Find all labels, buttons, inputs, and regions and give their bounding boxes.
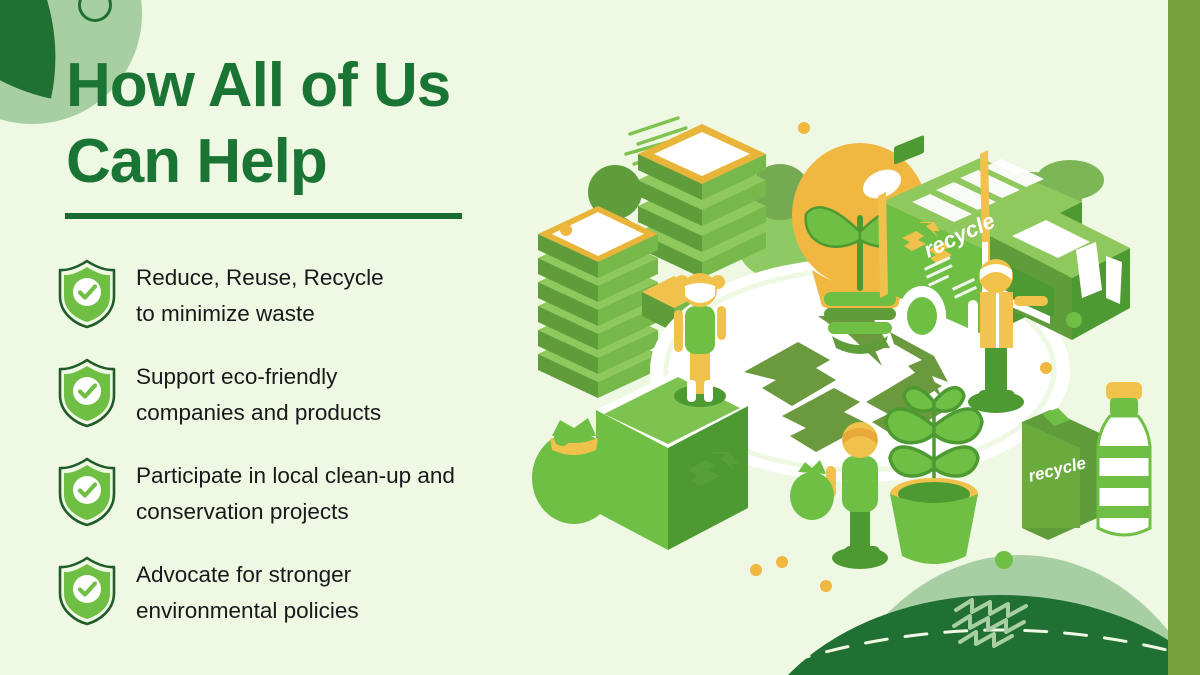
- list-item-label: Support eco-friendly companies and produ…: [136, 355, 381, 430]
- shield-check-icon: [56, 357, 118, 429]
- right-edge-accent-bar: [1168, 0, 1200, 675]
- list-item: Participate in local clean-up and conser…: [56, 454, 536, 529]
- list-item: Reduce, Reuse, Recycle to minimize waste: [56, 256, 536, 331]
- recycling-scene-illustration: recycle: [530, 110, 1170, 610]
- shield-check-icon: [56, 555, 118, 627]
- list-item-label: Advocate for stronger environmental poli…: [136, 553, 359, 628]
- shield-check-icon: [56, 456, 118, 528]
- list-item-label: Participate in local clean-up and conser…: [136, 454, 455, 529]
- title-underline-rule: [65, 213, 462, 219]
- list-item-label: Reduce, Reuse, Recycle to minimize waste: [136, 256, 384, 331]
- left-content-column: How All of Us Can Help Reduce, Reuse, Re…: [0, 0, 540, 675]
- bullet-list: Reduce, Reuse, Recycle to minimize waste…: [56, 256, 536, 628]
- plastic-bottle: [1098, 382, 1150, 535]
- list-item: Advocate for stronger environmental poli…: [56, 553, 536, 628]
- page-title: How All of Us Can Help: [66, 48, 526, 199]
- recycle-shopping-bag: recycle: [1022, 408, 1106, 540]
- slide-root: How All of Us Can Help Reduce, Reuse, Re…: [0, 0, 1200, 675]
- paper-stack-front: [538, 206, 658, 398]
- list-item: Support eco-friendly companies and produ…: [56, 355, 536, 430]
- paper-stack-back: [638, 124, 766, 278]
- shield-check-icon: [56, 258, 118, 330]
